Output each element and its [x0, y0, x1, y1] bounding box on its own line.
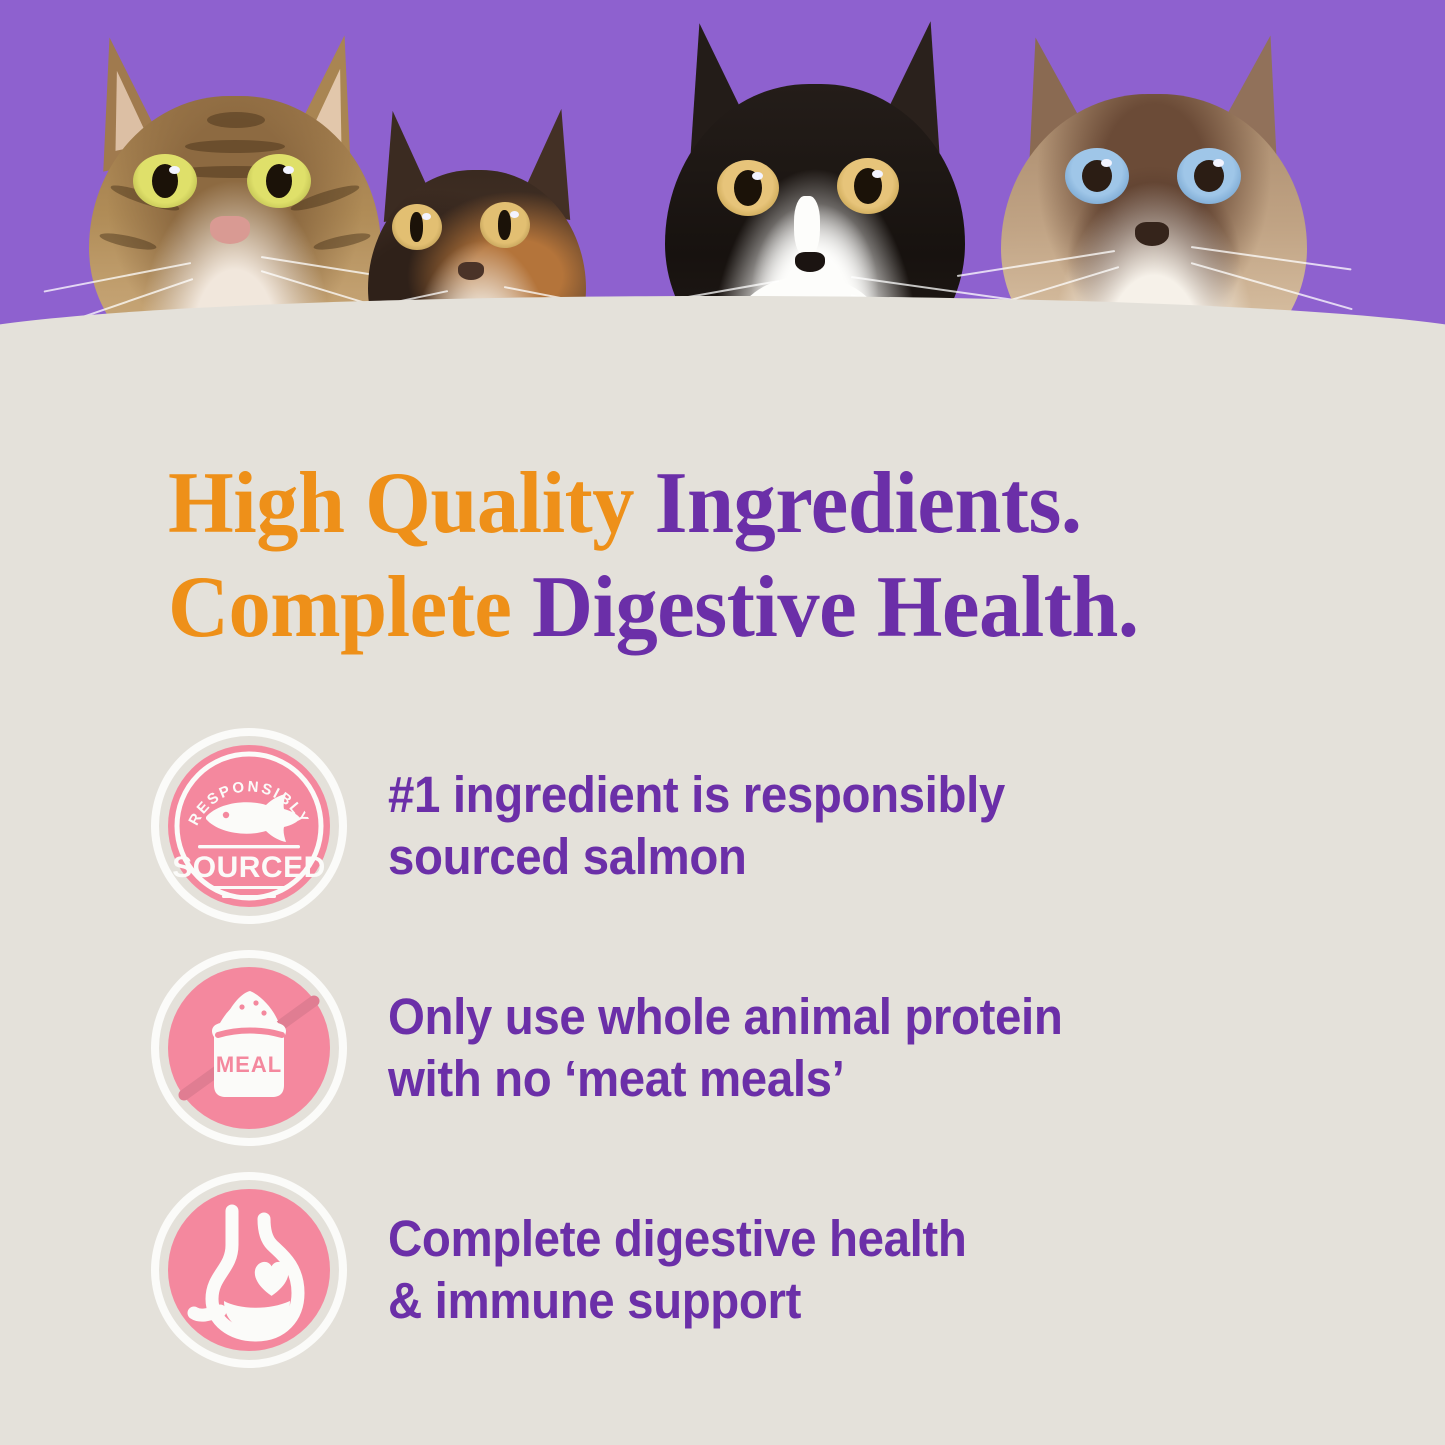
- headline-rest-2: Digestive Health.: [532, 559, 1139, 656]
- eye-right: [247, 154, 311, 208]
- eye-left: [1065, 148, 1129, 204]
- headline-highlight-1: High Quality: [168, 455, 655, 552]
- eye-right: [837, 158, 899, 214]
- product-benefits-infographic: High Quality Ingredients. Complete Diges…: [0, 0, 1445, 1445]
- benefit-row-digestive-health: Complete digestive health & immune suppo…: [168, 1170, 1348, 1370]
- responsibly-sourced-fish-badge-icon: RESPONSIBLY SOURCED: [168, 745, 330, 907]
- benefit-text: #1 ingredient is responsibly sourced sal…: [388, 764, 1005, 888]
- benefit-text: Complete digestive health & immune suppo…: [388, 1208, 966, 1332]
- benefit-row-responsibly-sourced: RESPONSIBLY SOURCED #1 ingredient: [168, 726, 1348, 926]
- hero-banner: [0, 0, 1445, 400]
- beige-curve-divider: [0, 296, 1445, 400]
- nose: [458, 262, 484, 280]
- benefit-row-no-meat-meals: MEAL Only use whole animal protein with …: [168, 948, 1348, 1148]
- headline-line-1: High Quality Ingredients.: [168, 452, 1301, 556]
- svg-text:MEAL: MEAL: [216, 1052, 282, 1077]
- headline-highlight-2: Complete: [168, 559, 532, 656]
- eye-right: [480, 202, 530, 248]
- nose: [795, 252, 825, 272]
- benefit-list: RESPONSIBLY SOURCED #1 ingredient: [168, 726, 1348, 1370]
- nose: [210, 216, 250, 244]
- headline-line-2: Complete Digestive Health.: [168, 556, 1301, 660]
- eye-left: [133, 154, 197, 208]
- svg-text:SOURCED: SOURCED: [172, 851, 326, 884]
- no-meat-meal-sack-icon: MEAL: [168, 967, 330, 1129]
- page-title: High Quality Ingredients. Complete Diges…: [168, 452, 1301, 660]
- headline-rest-1: Ingredients.: [655, 455, 1082, 552]
- eye-left: [717, 160, 779, 216]
- eye-right: [1177, 148, 1241, 204]
- benefit-text: Only use whole animal protein with no ‘m…: [388, 986, 1062, 1110]
- face-blaze-marking: [794, 196, 820, 258]
- eye-left: [392, 204, 442, 250]
- nose: [1135, 222, 1169, 246]
- stomach-heart-digestive-health-icon: [168, 1189, 330, 1351]
